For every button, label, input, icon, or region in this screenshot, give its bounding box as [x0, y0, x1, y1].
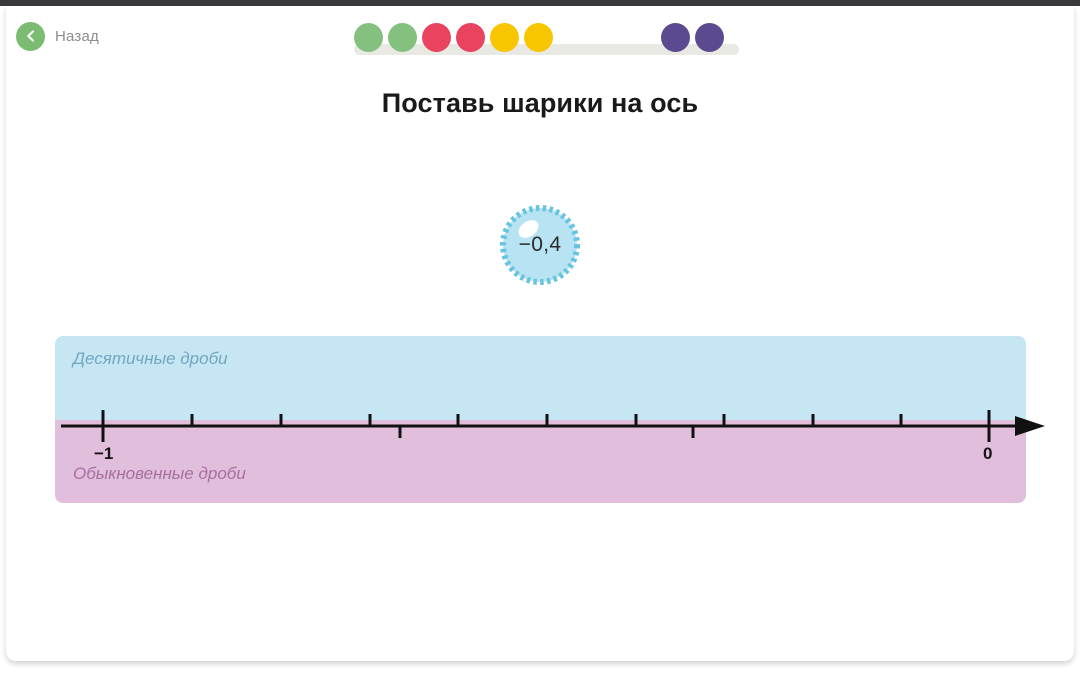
bubble-icon — [499, 204, 581, 286]
progress-dot-4[interactable] — [456, 23, 485, 52]
axis-label-start: −1 — [94, 444, 113, 464]
progress-dot-3[interactable] — [422, 23, 451, 52]
lesson-card: Назад Поставь шарики на ось − — [6, 6, 1074, 661]
chevron-left-icon — [16, 22, 45, 51]
back-button[interactable]: Назад — [16, 16, 99, 56]
ball-tray: −0,4 — [6, 204, 1074, 304]
app-root: Назад Поставь шарики на ось − — [0, 0, 1080, 677]
axis-label-end: 0 — [983, 444, 992, 464]
back-button-label: Назад — [55, 28, 99, 45]
progress-dot-8[interactable] — [695, 23, 724, 52]
progress-dot-2[interactable] — [388, 23, 417, 52]
progress-dot-6[interactable] — [524, 23, 553, 52]
page-title: Поставь шарики на ось — [6, 88, 1074, 119]
decimal-fractions-label: Десятичные дроби — [73, 349, 228, 369]
progress-dot-5[interactable] — [490, 23, 519, 52]
progress-dot-7[interactable] — [661, 23, 690, 52]
common-fractions-label: Обыкновенные дроби — [73, 464, 246, 484]
number-line-panel[interactable]: Десятичные дроби Обыкновенные дроби — [55, 336, 1026, 503]
draggable-ball[interactable]: −0,4 — [499, 204, 581, 286]
progress-dot-1[interactable] — [354, 23, 383, 52]
progress-indicator — [348, 18, 744, 58]
common-fractions-band[interactable] — [55, 420, 1026, 503]
